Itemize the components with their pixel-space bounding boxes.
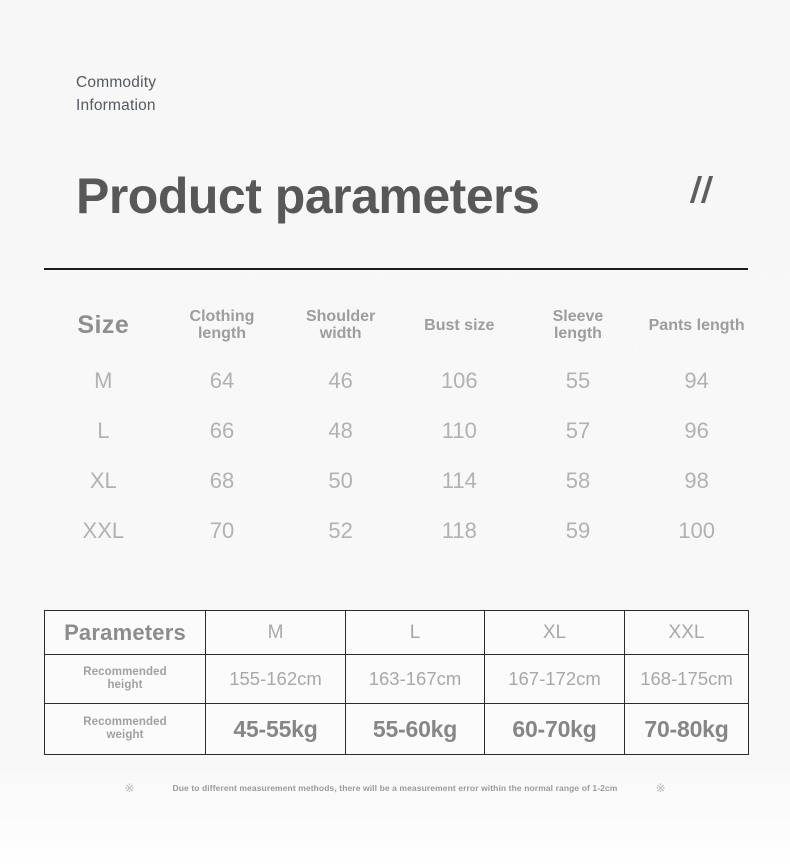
cell-weight-m: 45-55kg	[206, 704, 346, 755]
footer-note-row: ※ Due to different measurement methods, …	[0, 782, 790, 794]
column-header-pants-length: Pants length	[637, 300, 756, 356]
size-header-m: M	[206, 611, 346, 655]
size-chart-header-row: Size Clothing length Shoulder width Bust…	[44, 300, 756, 356]
size-header-l: L	[346, 611, 485, 655]
double-slash-icon	[688, 176, 728, 212]
cell-clothing-length: 70	[163, 506, 282, 556]
column-header-sleeve-length: Sleeve length	[519, 300, 638, 356]
size-header-xl: XL	[485, 611, 625, 655]
cell-weight-xl: 60-70kg	[485, 704, 625, 755]
cell-size: L	[44, 406, 163, 456]
row-label-recommended-height: Recommended height	[45, 655, 206, 704]
cell-pants-length: 96	[637, 406, 756, 456]
cell-shoulder-width: 46	[281, 356, 400, 406]
cell-height-xxl: 168-175cm	[625, 655, 749, 704]
cell-bust-size: 118	[400, 506, 519, 556]
column-header-shoulder-width: Shoulder width	[281, 300, 400, 356]
row-label-recommended-weight: Recommended weight	[45, 704, 206, 755]
page-title: Product parameters	[76, 163, 539, 229]
cell-bust-size: 110	[400, 406, 519, 456]
cell-size: XL	[44, 456, 163, 506]
recommendation-table: Parameters M L XL XXL Recommended height…	[44, 610, 749, 755]
cell-shoulder-width: 48	[281, 406, 400, 456]
size-header-xxl: XXL	[625, 611, 749, 655]
parameters-corner-label: Parameters	[45, 611, 206, 655]
cell-bust-size: 106	[400, 356, 519, 406]
cell-bust-size: 114	[400, 456, 519, 506]
measurement-disclaimer: Due to different measurement methods, th…	[173, 783, 618, 793]
cell-size: XXL	[44, 506, 163, 556]
cell-sleeve-length: 57	[519, 406, 638, 456]
reference-mark-icon-right: ※	[655, 782, 665, 794]
recommended-weight-row: Recommended weight 45-55kg 55-60kg 60-70…	[45, 704, 749, 755]
cell-pants-length: 98	[637, 456, 756, 506]
table-row: L 66 48 110 57 96	[44, 406, 756, 456]
cell-sleeve-length: 58	[519, 456, 638, 506]
cell-pants-length: 94	[637, 356, 756, 406]
header-divider	[44, 268, 748, 270]
cell-clothing-length: 64	[163, 356, 282, 406]
cell-pants-length: 100	[637, 506, 756, 556]
cell-height-m: 155-162cm	[206, 655, 346, 704]
size-chart-table: Size Clothing length Shoulder width Bust…	[44, 300, 756, 556]
title-row: Product parameters	[76, 163, 750, 233]
table-row: M 64 46 106 55 94	[44, 356, 756, 406]
column-header-clothing-length: Clothing length	[163, 300, 282, 356]
cell-weight-xxl: 70-80kg	[625, 704, 749, 755]
recommendation-header-row: Parameters M L XL XXL	[45, 611, 749, 655]
cell-shoulder-width: 50	[281, 456, 400, 506]
eyebrow-label: Commodity Information	[76, 71, 276, 117]
cell-height-l: 163-167cm	[346, 655, 485, 704]
cell-clothing-length: 66	[163, 406, 282, 456]
reference-mark-icon-left: ※	[124, 782, 134, 794]
recommended-height-row: Recommended height 155-162cm 163-167cm 1…	[45, 655, 749, 704]
table-row: XL 68 50 114 58 98	[44, 456, 756, 506]
column-header-size: Size	[44, 300, 163, 356]
cell-weight-l: 55-60kg	[346, 704, 485, 755]
cell-clothing-length: 68	[163, 456, 282, 506]
cell-sleeve-length: 59	[519, 506, 638, 556]
cell-shoulder-width: 52	[281, 506, 400, 556]
column-header-bust-size: Bust size	[400, 300, 519, 356]
cell-size: M	[44, 356, 163, 406]
cell-height-xl: 167-172cm	[485, 655, 625, 704]
table-row: XXL 70 52 118 59 100	[44, 506, 756, 556]
cell-sleeve-length: 55	[519, 356, 638, 406]
